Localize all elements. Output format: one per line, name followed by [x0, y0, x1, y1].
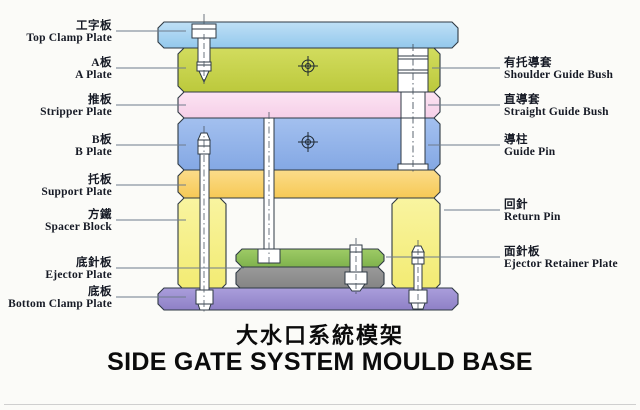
bottom-divider: [4, 404, 636, 405]
label-en: Stripper Plate: [0, 106, 112, 118]
label-en: Ejector Plate: [0, 269, 112, 281]
label-en: A Plate: [0, 69, 112, 81]
label-cn: 直導套: [504, 94, 609, 106]
diagram-canvas: 工字板 Top Clamp Plate A板 A Plate 推板 Stripp…: [0, 0, 640, 410]
label-cn: 回針: [504, 199, 561, 211]
label-en: Straight Guide Bush: [504, 106, 609, 118]
label-shoulder-guide-bush: 有托導套 Shoulder Guide Bush: [504, 57, 613, 82]
label-cn: 面針板: [504, 246, 618, 258]
guide-pin-assembly: [398, 44, 428, 172]
title-english: SIDE GATE SYSTEM MOULD BASE: [0, 348, 640, 377]
label-cn: B板: [0, 134, 112, 146]
label-cn: 推板: [0, 94, 112, 106]
label-cn: 托板: [0, 174, 112, 186]
label-support-plate: 托板 Support Plate: [0, 174, 112, 199]
label-en: Support Plate: [0, 186, 112, 198]
label-b-plate: B板 B Plate: [0, 134, 112, 159]
label-cn: 工字板: [0, 20, 112, 32]
label-cn: 導柱: [504, 134, 555, 146]
label-ejector-plate: 底針板 Ejector Plate: [0, 257, 112, 282]
label-guide-pin: 導柱 Guide Pin: [504, 134, 555, 159]
label-en: Spacer Block: [0, 221, 112, 233]
label-spacer-block: 方鐵 Spacer Block: [0, 209, 112, 234]
label-cn: 有托導套: [504, 57, 613, 69]
label-en: Ejector Retainer Plate: [504, 258, 618, 270]
label-en: Return Pin: [504, 211, 561, 223]
label-cn: 底板: [0, 286, 112, 298]
label-en: Shoulder Guide Bush: [504, 69, 613, 81]
label-ejector-retainer-plate: 面針板 Ejector Retainer Plate: [504, 246, 618, 271]
label-en: Bottom Clamp Plate: [0, 298, 112, 310]
label-bottom-clamp-plate: 底板 Bottom Clamp Plate: [0, 286, 112, 311]
label-en: Guide Pin: [504, 146, 555, 158]
label-en: Top Clamp Plate: [0, 32, 112, 44]
label-return-pin: 回針 Return Pin: [504, 199, 561, 224]
label-cn: A板: [0, 57, 112, 69]
label-straight-guide-bush: 直導套 Straight Guide Bush: [504, 94, 609, 119]
label-a-plate: A板 A Plate: [0, 57, 112, 82]
label-en: B Plate: [0, 146, 112, 158]
label-cn: 方鐵: [0, 209, 112, 221]
title-chinese: 大水口系統模架: [0, 318, 640, 350]
part-support-plate: [178, 170, 440, 198]
label-top-clamp-plate: 工字板 Top Clamp Plate: [0, 20, 112, 45]
label-cn: 底針板: [0, 257, 112, 269]
label-stripper-plate: 推板 Stripper Plate: [0, 94, 112, 119]
